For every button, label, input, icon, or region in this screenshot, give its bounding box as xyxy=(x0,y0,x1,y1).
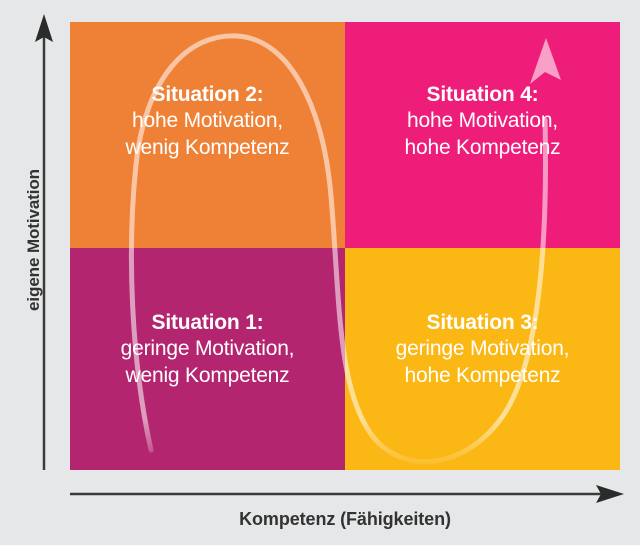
quadrant-title: Situation 1: xyxy=(152,310,264,336)
quadrant-diagram: Situation 2: hohe Motivation, wenig Komp… xyxy=(0,0,640,545)
quadrant-line-2: hohe Kompetenz xyxy=(405,363,561,389)
quadrant-line-1: hohe Motivation, xyxy=(132,108,283,134)
quadrant-line-2: wenig Kompetenz xyxy=(126,363,290,389)
quadrant-grid: Situation 2: hohe Motivation, wenig Komp… xyxy=(70,22,620,470)
quadrant-situation-3[interactable]: Situation 3: geringe Motivation, hohe Ko… xyxy=(345,248,620,470)
quadrant-situation-2[interactable]: Situation 2: hohe Motivation, wenig Komp… xyxy=(70,22,345,248)
quadrant-line-1: geringe Motivation, xyxy=(121,336,295,362)
quadrant-line-2: wenig Kompetenz xyxy=(126,135,290,161)
quadrant-title: Situation 4: xyxy=(427,82,539,108)
y-axis-arrow-icon xyxy=(35,14,53,42)
x-axis-label: Kompetenz (Fähigkeiten) xyxy=(70,509,620,530)
quadrant-line-2: hohe Kompetenz xyxy=(405,135,561,161)
quadrant-title: Situation 3: xyxy=(427,310,539,336)
quadrant-line-1: hohe Motivation, xyxy=(407,108,558,134)
quadrant-line-1: geringe Motivation, xyxy=(396,336,570,362)
quadrant-situation-1[interactable]: Situation 1: geringe Motivation, wenig K… xyxy=(70,248,345,470)
quadrant-title: Situation 2: xyxy=(152,82,264,108)
y-axis-label: eigene Motivation xyxy=(24,140,44,340)
x-axis-arrow-icon xyxy=(596,485,624,503)
quadrant-situation-4[interactable]: Situation 4: hohe Motivation, hohe Kompe… xyxy=(345,22,620,248)
